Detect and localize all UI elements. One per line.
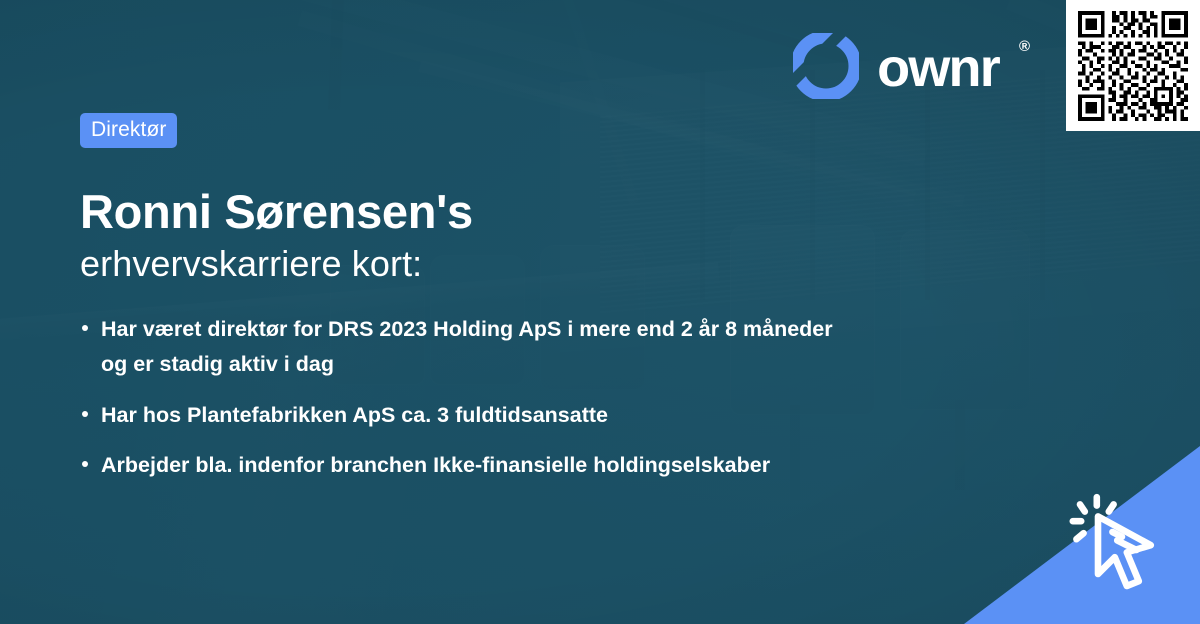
bullet-dot-icon	[82, 325, 88, 331]
registered-trademark-icon: ®	[1019, 38, 1030, 55]
role-badge: Direktør	[80, 113, 177, 148]
person-name-title: Ronni Sørensen's	[80, 186, 473, 238]
ownr-circle-logo-icon	[793, 33, 859, 99]
card-subtitle: erhvervskarriere kort:	[80, 242, 422, 285]
bullet-dot-icon	[82, 411, 88, 417]
business-career-card: Direktør Ronni Sørensen's erhvervskarrie…	[0, 0, 1200, 624]
fact-text: Arbejder bla. indenfor branchen Ikke-fin…	[101, 453, 770, 477]
ownr-logo[interactable]: ownr ®	[793, 33, 1028, 99]
list-item: Har været direktør for DRS 2023 Holding …	[80, 312, 861, 382]
qr-code-panel[interactable]	[1066, 0, 1200, 131]
list-item: Arbejder bla. indenfor branchen Ikke-fin…	[80, 448, 861, 483]
fact-text: Har hos Plantefabrikken ApS ca. 3 fuldti…	[101, 403, 608, 427]
qr-code-icon	[1078, 11, 1188, 121]
ownr-wordmark: ownr	[877, 41, 999, 95]
fact-text: Har været direktør for DRS 2023 Holding …	[101, 317, 833, 376]
career-facts-list: Har været direktør for DRS 2023 Holding …	[80, 312, 960, 483]
list-item: Har hos Plantefabrikken ApS ca. 3 fuldti…	[80, 398, 861, 433]
bullet-dot-icon	[82, 461, 88, 467]
